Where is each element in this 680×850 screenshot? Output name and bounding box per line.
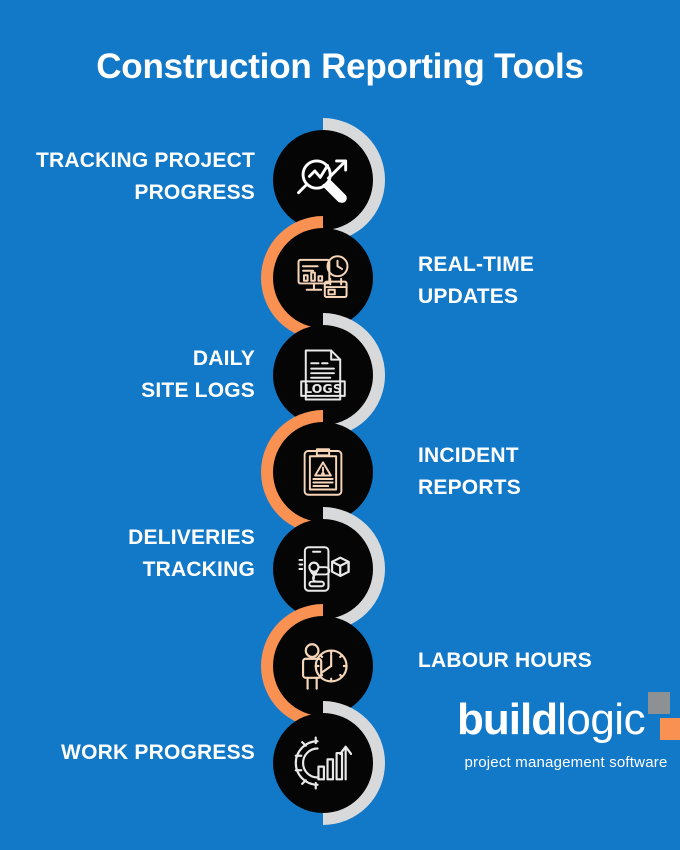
item-label-incident-reports: INCIDENT REPORTS (418, 440, 668, 504)
label-line-1: TRACKING PROJECT (10, 145, 255, 177)
label-line-1: INCIDENT (418, 440, 668, 472)
item-label-daily-site-logs: DAILY SITE LOGS (10, 343, 255, 407)
chain-node-7[interactable] (261, 701, 385, 825)
svg-text:LOGS: LOGS (304, 381, 342, 396)
icon-disc-1[interactable] (273, 130, 373, 230)
logs-document-icon: LOGS (294, 346, 352, 404)
person-clock-icon (294, 637, 352, 695)
clipboard-warning-icon (295, 444, 351, 500)
item-label-labour-hours: LABOUR HOURS (418, 645, 668, 677)
logo-square-gray-icon (648, 692, 670, 714)
infographic-canvas: Construction Reporting Tools (0, 0, 680, 850)
label-line-1: REAL-TIME (418, 249, 668, 281)
label-line-1: LABOUR HOURS (418, 645, 668, 677)
item-label-deliveries-tracking: DELIVERIES TRACKING (10, 522, 255, 586)
label-line-1: DAILY (10, 343, 255, 375)
logo-tagline: project management software (452, 754, 680, 771)
magnifier-growth-arrow-icon (294, 151, 352, 209)
label-line-2: SITE LOGS (10, 375, 255, 407)
label-line-1: DELIVERIES (10, 522, 255, 554)
item-label-tracking-project-progress: TRACKING PROJECT PROGRESS (10, 145, 255, 209)
label-line-2: TRACKING (10, 554, 255, 586)
item-label-work-progress: WORK PROGRESS (10, 737, 255, 769)
phone-route-package-icon (294, 540, 352, 598)
label-line-1: WORK PROGRESS (10, 737, 255, 769)
dashboard-clock-calendar-icon (294, 249, 352, 307)
label-line-2: UPDATES (418, 281, 668, 313)
label-line-2: REPORTS (418, 472, 668, 504)
label-line-2: PROGRESS (10, 177, 255, 209)
logo-wordmark: buildlogic (457, 698, 645, 742)
icon-disc-7[interactable] (273, 713, 373, 813)
buildlogic-logo[interactable]: buildlogic project management software (430, 692, 680, 792)
item-label-real-time-updates: REAL-TIME UPDATES (418, 249, 668, 313)
logo-word-build: build (457, 695, 557, 744)
gear-barchart-arrow-icon (294, 734, 352, 792)
logo-square-orange-icon (660, 718, 680, 740)
logo-word-logic: logic (557, 695, 645, 744)
